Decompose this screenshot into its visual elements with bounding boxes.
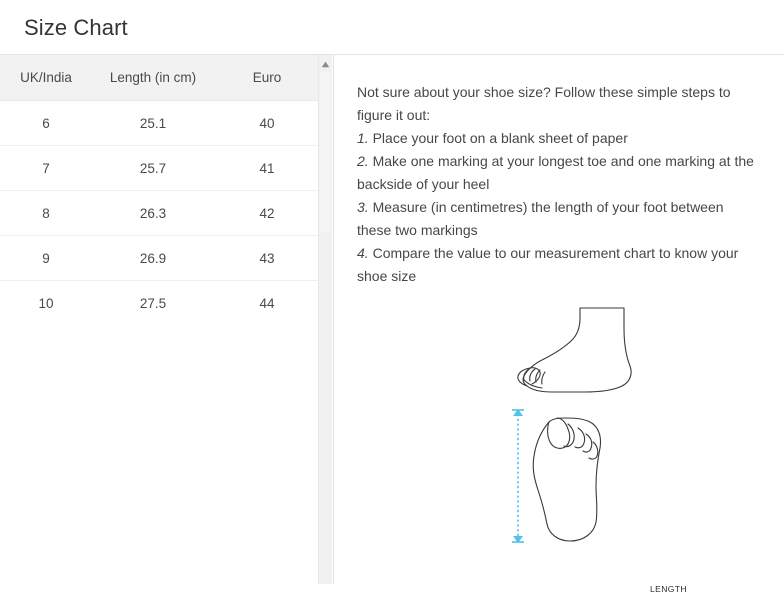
cell-euro: 40 (214, 101, 320, 146)
step-number: 2. (357, 153, 369, 169)
cell-euro: 44 (214, 281, 320, 326)
scroll-up-arrow-icon[interactable] (319, 58, 332, 71)
measurement-info-panel: Not sure about your shoe size? Follow th… (334, 55, 784, 584)
title-bar: Size Chart (0, 0, 784, 55)
scrollbar-thumb[interactable] (320, 72, 331, 232)
table-scrollbar[interactable] (318, 55, 332, 584)
foot-side-profile-icon (512, 306, 642, 401)
foot-sole-with-measure: LENGTH (502, 406, 632, 551)
column-header-length-cm: Length (in cm) (92, 55, 214, 101)
size-table: UK/India Length (in cm) Euro 6 25.1 40 7 (0, 55, 320, 325)
intro-text: Not sure about your shoe size? Follow th… (357, 81, 756, 127)
table-header-row: UK/India Length (in cm) Euro (0, 55, 320, 101)
foot-measurement-illustration: LENGTH (357, 306, 756, 566)
cell-uk-india: 10 (0, 281, 92, 326)
cell-uk-india: 9 (0, 236, 92, 281)
cell-uk-india: 6 (0, 101, 92, 146)
column-header-euro: Euro (214, 55, 320, 101)
length-measure-arrow-icon (512, 409, 524, 543)
cell-length-cm: 25.7 (92, 146, 214, 191)
step-text: Make one marking at your longest toe and… (357, 153, 754, 192)
table-row: 6 25.1 40 (0, 101, 320, 146)
step-number: 4. (357, 245, 369, 261)
table-row: 8 26.3 42 (0, 191, 320, 236)
list-item: 1. Place your foot on a blank sheet of p… (357, 127, 756, 150)
cell-euro: 42 (214, 191, 320, 236)
step-text: Compare the value to our measurement cha… (357, 245, 738, 284)
table-row: 7 25.7 41 (0, 146, 320, 191)
list-item: 2. Make one marking at your longest toe … (357, 150, 756, 196)
length-label: LENGTH (650, 584, 687, 594)
cell-length-cm: 26.3 (92, 191, 214, 236)
cell-uk-india: 8 (0, 191, 92, 236)
step-text: Place your foot on a blank sheet of pape… (373, 130, 628, 146)
page-title: Size Chart (24, 14, 784, 42)
cell-euro: 43 (214, 236, 320, 281)
table-row: 10 27.5 44 (0, 281, 320, 326)
column-header-uk-india: UK/India (0, 55, 92, 101)
size-table-panel: UK/India Length (in cm) Euro 6 25.1 40 7 (0, 55, 334, 584)
measurement-steps-list: 1. Place your foot on a blank sheet of p… (357, 127, 756, 288)
table-row: 9 26.9 43 (0, 236, 320, 281)
cell-euro: 41 (214, 146, 320, 191)
list-item: 3. Measure (in centimetres) the length o… (357, 196, 756, 242)
step-text: Measure (in centimetres) the length of y… (357, 199, 724, 238)
step-number: 1. (357, 130, 369, 146)
size-table-scroll-region[interactable]: UK/India Length (in cm) Euro 6 25.1 40 7 (0, 55, 320, 584)
content-area: UK/India Length (in cm) Euro 6 25.1 40 7 (0, 55, 784, 584)
step-number: 3. (357, 199, 369, 215)
size-chart-page: Size Chart UK/India Length (in cm) Euro (0, 0, 784, 584)
size-table-header: UK/India Length (in cm) Euro (0, 55, 320, 101)
list-item: 4. Compare the value to our measurement … (357, 242, 756, 288)
cell-length-cm: 25.1 (92, 101, 214, 146)
cell-length-cm: 27.5 (92, 281, 214, 326)
cell-uk-india: 7 (0, 146, 92, 191)
cell-length-cm: 26.9 (92, 236, 214, 281)
size-table-body: 6 25.1 40 7 25.7 41 8 26.3 42 (0, 101, 320, 326)
